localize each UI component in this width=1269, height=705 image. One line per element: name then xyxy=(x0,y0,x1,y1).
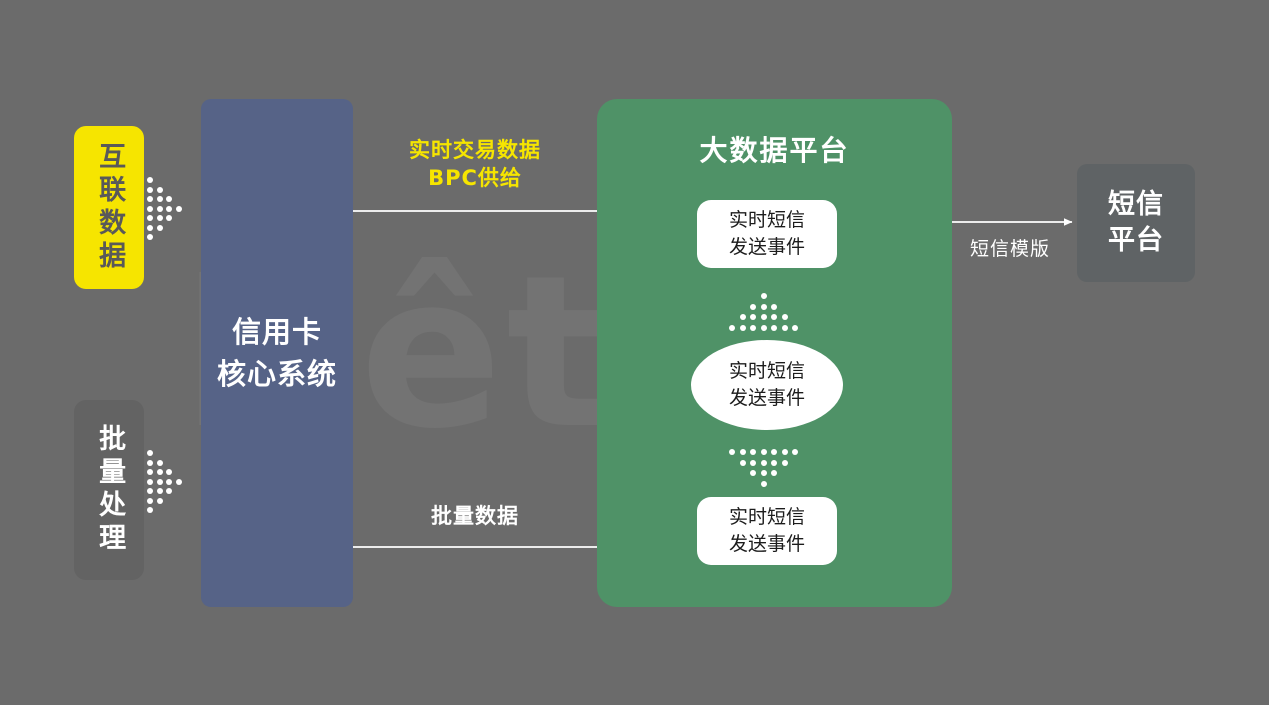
event-node-top-line1: 实时短信 xyxy=(729,207,805,234)
node-core-system-line1: 信用卡 xyxy=(217,311,337,353)
node-core-system[interactable]: 信用卡 核心系统 xyxy=(201,99,353,607)
dotted-arrow-internet-icon xyxy=(147,177,182,240)
node-internet-data[interactable]: 互联数据 xyxy=(74,126,144,289)
node-batch-process-label: 批量处理 xyxy=(95,424,123,556)
event-node-bottom-line1: 实时短信 xyxy=(729,504,805,531)
bigdata-platform-title: 大数据平台 xyxy=(597,129,952,169)
edge-label-realtime: 实时交易数据 BPC供给 xyxy=(355,136,595,193)
node-internet-data-label: 互联数据 xyxy=(95,142,123,274)
event-node-middle[interactable]: 实时短信 发送事件 xyxy=(691,340,843,430)
event-node-middle-line2: 发送事件 xyxy=(729,385,805,412)
node-sms-platform-line1: 短信 xyxy=(1108,187,1164,223)
edge-label-batch: 批量数据 xyxy=(355,502,595,530)
edge-label-sms-template: 短信模版 xyxy=(940,237,1080,263)
diagram-canvas: Nêt 互联数据 批量处理 信用卡 核心系统 xyxy=(0,0,1269,705)
event-node-bottom-line2: 发送事件 xyxy=(729,531,805,558)
event-node-top-line2: 发送事件 xyxy=(729,234,805,261)
dotted-arrow-up-icon xyxy=(729,293,798,331)
dotted-arrow-down-icon xyxy=(729,449,798,487)
event-node-top[interactable]: 实时短信 发送事件 xyxy=(697,200,837,268)
node-bigdata-platform[interactable]: 大数据平台 实时短信 发送事件 实时短信 发送事件 实时短信 发送事件 xyxy=(597,99,952,607)
node-sms-platform[interactable]: 短信 平台 xyxy=(1077,164,1195,282)
event-node-middle-line1: 实时短信 xyxy=(729,358,805,385)
node-batch-process[interactable]: 批量处理 xyxy=(74,400,144,580)
event-node-bottom[interactable]: 实时短信 发送事件 xyxy=(697,497,837,565)
node-sms-platform-line2: 平台 xyxy=(1108,223,1164,259)
node-core-system-line2: 核心系统 xyxy=(217,353,337,395)
dotted-arrow-batch-icon xyxy=(147,450,182,513)
